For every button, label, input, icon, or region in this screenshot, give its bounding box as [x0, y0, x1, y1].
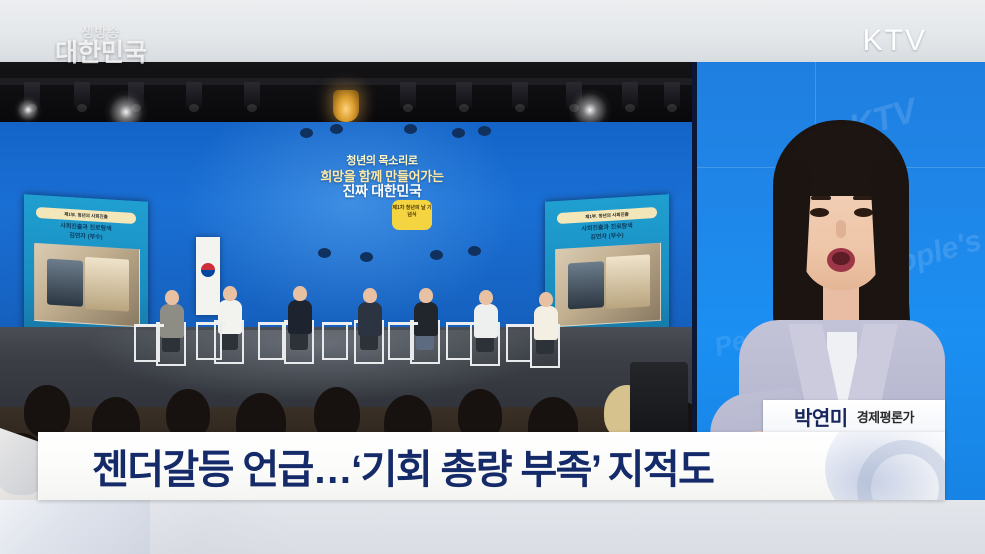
- side-panel-title-left: 사회진출과 진로탐색 김연자 (부수): [32, 221, 140, 246]
- stage-back-screen: 청년의 목소리로 희망을 함께 만들어가는 진짜 대한민국 제1차 청년의 날 …: [0, 122, 694, 327]
- amber-spotlight: [333, 90, 359, 122]
- side-panel-photo-left: [34, 243, 140, 327]
- lighting-truss: [0, 62, 694, 124]
- ktv-network-logo: KTV: [863, 24, 927, 58]
- headline-text: 젠더갈등 언급…‘기회 총량 부족’ 지적도: [38, 437, 713, 495]
- broadcast-screen: KTV: [0, 0, 985, 554]
- commentator-role: 경제평론가: [857, 407, 914, 426]
- slogan-line-2: 희망을 함께 만들어가는: [272, 169, 492, 184]
- stage-screen-slogan: 청년의 목소리로 희망을 함께 만들어가는 진짜 대한민국: [272, 130, 492, 265]
- slogan-line-3: 진짜 대한민국: [272, 184, 492, 199]
- stage-screen-badge: 제1차 청년의 날 기념식: [392, 200, 432, 230]
- side-panel-title-right: 사회진출과 진로탐색 김연자 (부수): [553, 221, 661, 246]
- headline-banner: 젠더갈등 언급…‘기회 총량 부족’ 지적도: [38, 432, 945, 500]
- slogan-line-1: 청년의 목소리로: [272, 154, 492, 169]
- commentator-name: 박연미: [794, 402, 848, 431]
- top-band: [0, 0, 985, 62]
- side-panel-photo-right: [555, 243, 661, 327]
- korean-flag: [196, 237, 220, 315]
- commentator-name-tag: 박연미 경제평론가: [763, 400, 945, 436]
